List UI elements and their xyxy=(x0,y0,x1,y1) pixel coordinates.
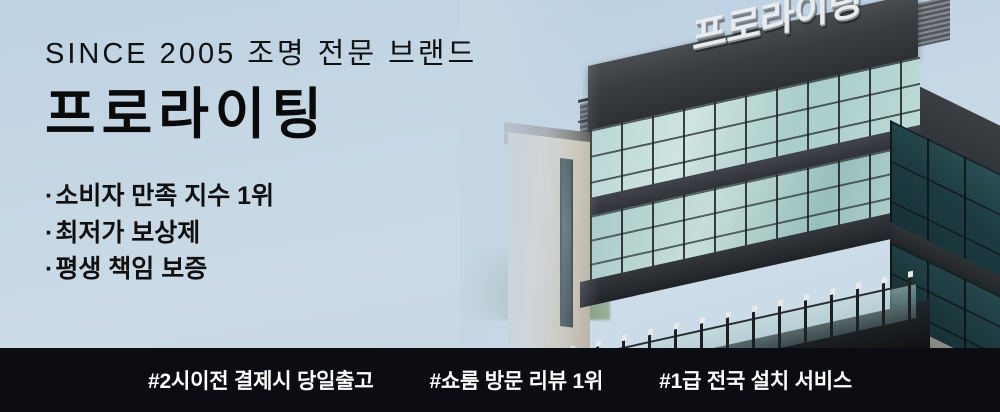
benefit-item: ·최저가 보상제 xyxy=(45,215,475,252)
stair-tower xyxy=(508,132,590,348)
bullet-marker-icon: · xyxy=(45,255,53,283)
showroom-photo: 프로라이팅 xyxy=(460,0,1000,348)
bullet-marker-icon: · xyxy=(45,219,53,247)
benefit-item: ·평생 책임 보증 xyxy=(45,251,475,288)
benefit-list: ·소비자 만족 지수 1위 ·최저가 보상제 ·평생 책임 보증 xyxy=(45,178,475,288)
benefit-label: 최저가 보상제 xyxy=(55,219,200,247)
tag-item-same-day-shipping: #2시이전 결제시 당일출고 xyxy=(148,365,373,395)
tag-item-showroom-review: #쇼룸 방문 리뷰 1위 xyxy=(429,365,603,395)
stair-tower-window xyxy=(560,158,573,328)
benefit-label: 소비자 만족 지수 1위 xyxy=(55,182,274,210)
benefit-label: 평생 책임 보증 xyxy=(55,255,207,283)
benefit-item: ·소비자 만족 지수 1위 xyxy=(45,178,475,215)
brand-title: 프로라이팅 xyxy=(45,87,475,142)
promo-banner: 프로라이팅 SINCE 2005 조명 전문 브랜드 프로라이팅 ·소비자 만족… xyxy=(0,0,1000,412)
bottom-tag-bar: #2시이전 결제시 당일출고 #쇼룸 방문 리뷰 1위 #1급 전국 설치 서비… xyxy=(0,348,1000,412)
eyebrow-tagline: SINCE 2005 조명 전문 브랜드 xyxy=(45,40,475,69)
tag-item-installation-service: #1급 전국 설치 서비스 xyxy=(659,365,852,395)
banner-copy: SINCE 2005 조명 전문 브랜드 프로라이팅 ·소비자 만족 지수 1위… xyxy=(45,40,475,288)
bullet-marker-icon: · xyxy=(45,182,53,210)
